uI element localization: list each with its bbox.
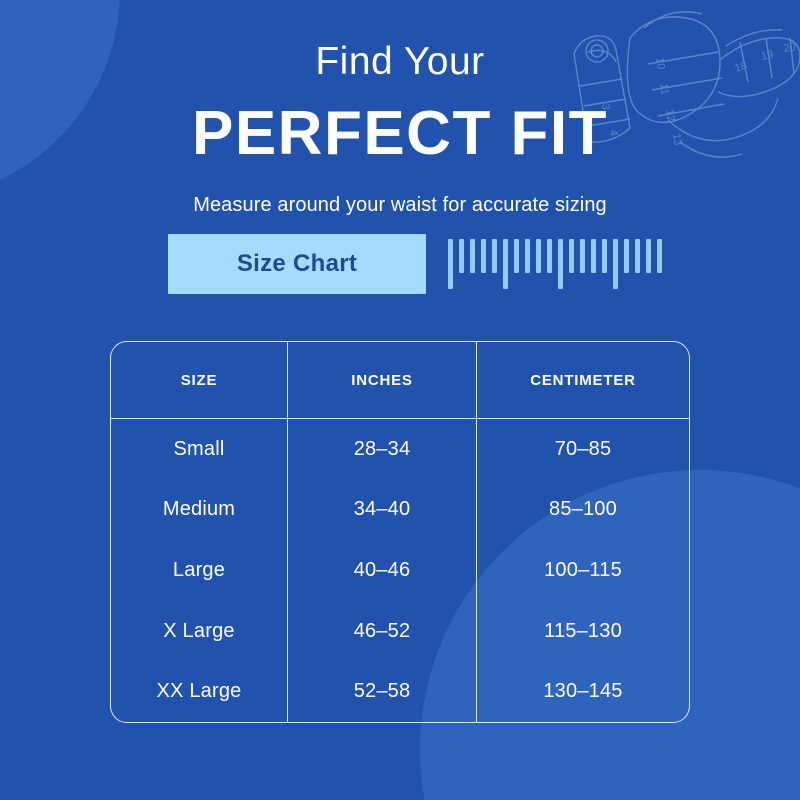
table-cell-size: Medium: [111, 480, 288, 541]
table-cell-size: XX Large: [111, 661, 288, 722]
table-cell-size: Large: [111, 540, 288, 601]
column-header-size: SIZE: [111, 342, 288, 419]
table-row: X Large46–52115–130: [111, 601, 689, 662]
table-row: Large40–46100–115: [111, 540, 689, 601]
table-row: Medium34–4085–100: [111, 480, 689, 541]
ruler-tick: [470, 239, 475, 273]
ruler-tick: [657, 239, 662, 273]
size-chart-button[interactable]: Size Chart: [168, 234, 426, 294]
ruler-tick: [525, 239, 530, 273]
table-body: Small28–3470–85Medium34–4085–100Large40–…: [111, 419, 689, 723]
ruler-tick: [591, 239, 596, 273]
page-eyebrow: Find Your: [0, 40, 800, 84]
cta-row: Size Chart: [168, 234, 662, 294]
ruler-tick: [558, 239, 563, 289]
page-title: PERFECT FIT: [0, 100, 800, 168]
ruler-tick: [646, 239, 651, 273]
table-header-row: SIZE INCHES CENTIMETER: [111, 342, 689, 419]
table-cell-centimeter: 85–100: [477, 480, 690, 541]
table-cell-size: X Large: [111, 601, 288, 662]
page-subtitle: Measure around your waist for accurate s…: [0, 194, 800, 217]
ruler-tick: [459, 239, 464, 273]
table-cell-inches: 46–52: [288, 601, 477, 662]
table-cell-inches: 28–34: [288, 419, 477, 480]
ruler-tick: [481, 239, 486, 273]
ruler-tick: [514, 239, 519, 273]
ruler-tick: [613, 239, 618, 289]
ruler-tick: [635, 239, 640, 273]
table-cell-centimeter: 115–130: [477, 601, 690, 662]
ruler-tick: [569, 239, 574, 273]
table-cell-inches: 52–58: [288, 661, 477, 722]
table-cell-centimeter: 130–145: [477, 661, 690, 722]
table-cell-centimeter: 100–115: [477, 540, 690, 601]
column-header-centimeter: CENTIMETER: [477, 342, 690, 419]
table-cell-size: Small: [111, 419, 288, 480]
header-block: Find Your PERFECT FIT Measure around you…: [0, 40, 800, 217]
ruler-tick: [624, 239, 629, 273]
size-chart-table: SIZE INCHES CENTIMETER Small28–3470–85Me…: [110, 341, 690, 723]
ruler-tick: [547, 239, 552, 273]
ruler-tick: [602, 239, 607, 273]
ruler-tick: [536, 239, 541, 273]
table-row: XX Large52–58130–145: [111, 661, 689, 722]
size-guide-poster: 10 11 12 13 18 19 20 3 4 Find Your PERFE…: [0, 0, 800, 800]
column-header-inches: INCHES: [288, 342, 477, 419]
ruler-decoration: [448, 239, 662, 289]
table-row: Small28–3470–85: [111, 419, 689, 480]
ruler-tick: [492, 239, 497, 273]
table-cell-centimeter: 70–85: [477, 419, 690, 480]
ruler-tick: [448, 239, 453, 289]
table-cell-inches: 34–40: [288, 480, 477, 541]
ruler-tick: [503, 239, 508, 289]
ruler-tick: [580, 239, 585, 273]
table-cell-inches: 40–46: [288, 540, 477, 601]
